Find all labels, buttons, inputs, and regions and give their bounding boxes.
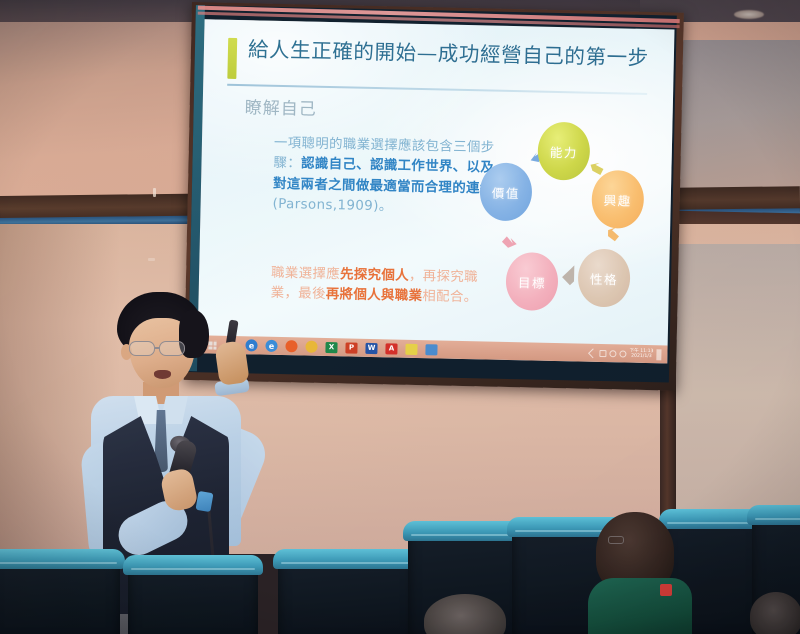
arrow-ability-to-interest	[590, 163, 603, 175]
text-segment: (Parsons,1909)。	[272, 197, 392, 215]
system-tray[interactable]: 下午 11:13 2021/1/3	[589, 347, 663, 360]
glasses-lens-left	[129, 341, 155, 356]
lower-wall-right	[672, 244, 800, 544]
clock[interactable]: 下午 11:13 2021/1/3	[629, 348, 653, 359]
page-title: 給人生正確的開始—成功經營自己的第一步	[248, 38, 649, 70]
audience-person	[750, 592, 800, 634]
chrome-icon[interactable]	[301, 338, 321, 354]
seat	[128, 562, 258, 634]
show-hidden-icons[interactable]	[588, 348, 598, 358]
word-icon[interactable]: W	[361, 340, 381, 356]
app-icon[interactable]	[421, 341, 441, 357]
text-segment: 相配合。	[422, 289, 477, 305]
firefox-icon[interactable]	[281, 338, 301, 354]
arrow-character-to-goal	[562, 265, 574, 285]
slide-subtitle: 瞭解自己	[244, 93, 317, 120]
wall-fixture	[153, 188, 156, 197]
lecture-hall-scene: 給人生正確的開始—成功經營自己的第一步 瞭解自己 一項聰明的職業選擇應該包含三個…	[0, 0, 800, 634]
arrow-goal-to-value	[501, 236, 518, 251]
audience-jacket	[588, 578, 692, 634]
slide-paragraph-2: 職業選擇應先探究個人，再探究職業，最後再將個人與職業相配合。	[270, 264, 503, 310]
text-segment: 先探究個人	[340, 267, 409, 284]
presenter-mouth	[154, 370, 171, 379]
powerpoint-icon[interactable]: P	[341, 339, 361, 355]
seat	[0, 556, 120, 634]
text-segment: 再將個人與職業	[326, 287, 423, 304]
glasses-lens-right	[159, 341, 185, 356]
presenter-raised-hand	[214, 340, 250, 386]
ime-icon[interactable]	[619, 350, 626, 357]
seat	[278, 556, 414, 634]
excel-icon[interactable]: X	[321, 339, 341, 355]
title-accent-bar	[227, 38, 237, 79]
glasses-bridge	[155, 347, 160, 349]
clock-date: 2021/1/3	[629, 354, 653, 360]
text-segment: 職業選擇應	[271, 266, 340, 283]
show-desktop-button[interactable]	[656, 349, 661, 360]
arrow-interest-to-character	[608, 227, 619, 241]
volume-icon[interactable]	[609, 350, 616, 357]
career-cycle-diagram: 能力 興趣 性格 目標 價值	[473, 120, 662, 324]
slide-paragraph-1: 一項聰明的職業選擇應該包含三個步驟：認識自己、認識工作世界、以及對這兩者之間做最…	[272, 134, 506, 221]
jacket-logo	[660, 584, 672, 596]
recessed-light	[734, 10, 764, 19]
text-segment: 認識自己、認識工作世界、以及對這兩者之間做最適當而合理的連結	[273, 157, 494, 197]
audience-glasses	[608, 536, 624, 544]
acrobat-icon[interactable]: A	[381, 340, 401, 356]
wall-mark	[148, 258, 155, 261]
notepad-icon[interactable]	[401, 341, 421, 357]
network-icon[interactable]	[599, 349, 606, 356]
